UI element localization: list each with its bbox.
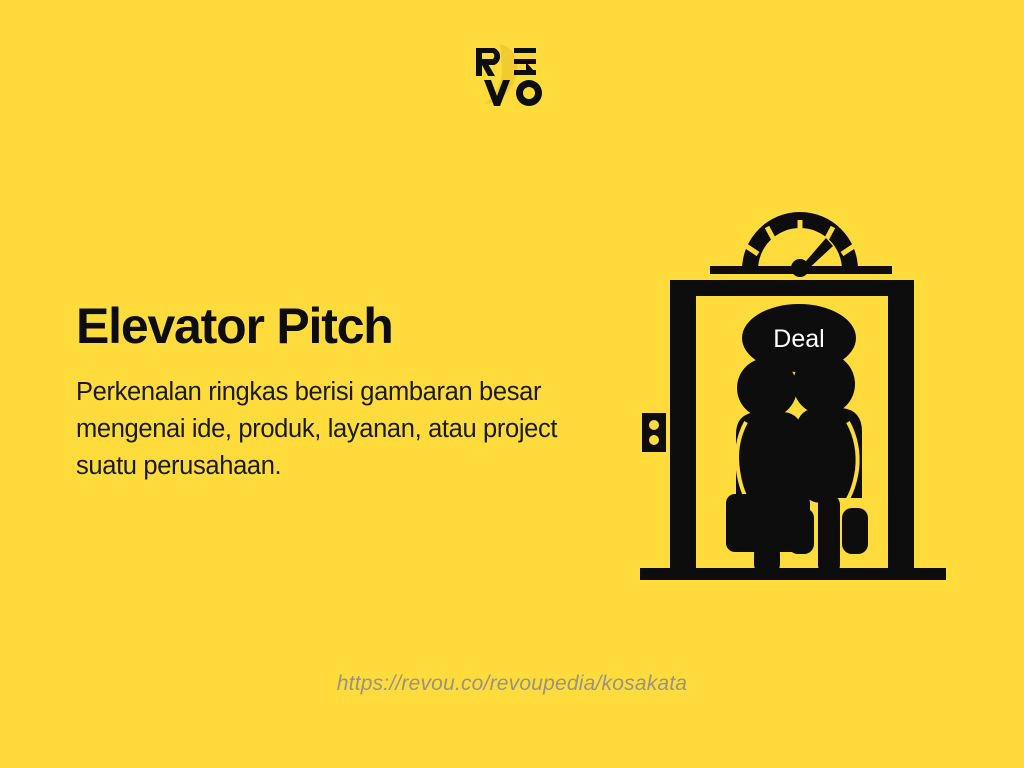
gauge-ledge: [710, 266, 892, 274]
call-panel-button-up[interactable]: [649, 420, 659, 430]
right-person-bag-right: [842, 508, 868, 554]
left-person-leg: [754, 542, 780, 576]
logo-letter-o: [516, 80, 542, 106]
frame-top: [670, 280, 914, 296]
elevator-handshake-illustration: Deal: [628, 208, 972, 600]
call-panel-plate: [642, 413, 666, 452]
revou-logo: [470, 38, 554, 110]
elevator-scene-svg: Deal: [628, 208, 972, 600]
speech-bubble-text: Deal: [773, 325, 824, 353]
call-panel-button-down[interactable]: [649, 435, 659, 445]
right-person-bag-left: [788, 508, 814, 554]
slide-canvas: Elevator Pitch Perkenalan ringkas berisi…: [0, 0, 1024, 768]
floor-indicator-gauge: [710, 212, 892, 277]
right-person-leg: [818, 494, 840, 576]
definition-text: Perkenalan ringkas berisi gambaran besar…: [76, 356, 576, 485]
handshake: [775, 471, 825, 493]
footer-url[interactable]: https://revou.co/revoupedia/kosakata: [0, 672, 1024, 696]
logo-letter-e: [514, 48, 536, 75]
frame-left: [670, 280, 696, 578]
floor-bar: [640, 568, 946, 580]
logo-letter-r: [476, 48, 500, 76]
text-block: Elevator Pitch Perkenalan ringkas berisi…: [76, 296, 596, 485]
page-title: Elevator Pitch: [76, 296, 596, 356]
revou-logo-mark: [470, 38, 554, 110]
elevator-call-panel[interactable]: [642, 413, 666, 452]
frame-right: [888, 280, 914, 578]
